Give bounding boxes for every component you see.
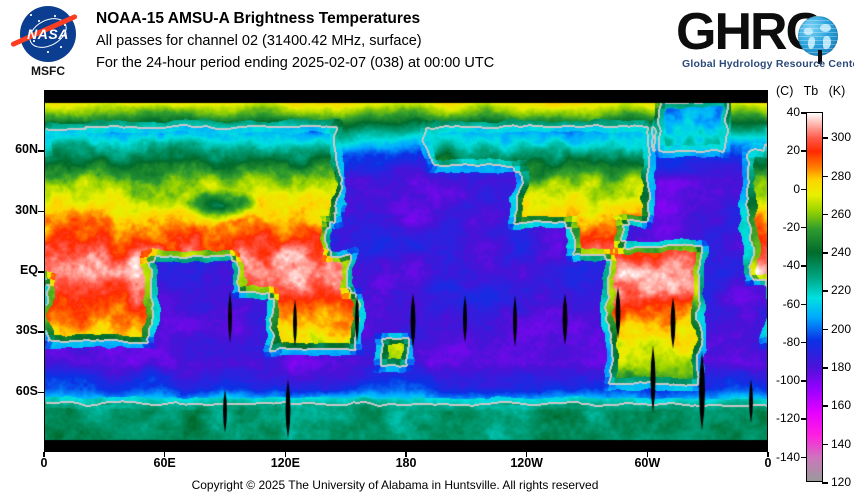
colorbar-celsius-label: -120	[776, 411, 800, 425]
colorbar-kelvin-tick	[822, 444, 828, 446]
colorbar-kelvin-tick	[822, 405, 828, 407]
colorbar-kelvin-tick	[822, 137, 828, 139]
nasa-wordmark: NASA	[20, 26, 76, 42]
latitude-tick-mark	[38, 331, 44, 333]
colorbar-celsius-label: -60	[783, 297, 800, 311]
colorbar-celsius-tick	[801, 227, 807, 229]
latitude-tick-mark	[38, 150, 44, 152]
colorbar-kelvin-unit: (K)	[829, 84, 846, 98]
longitude-tick-mark	[285, 452, 287, 457]
longitude-tick-mark	[526, 452, 528, 457]
colorbar-kelvin-tick	[822, 482, 828, 484]
colorbar-celsius-label: -20	[783, 220, 800, 234]
longitude-tick-label: 60E	[154, 456, 176, 470]
longitude-tick-label: 180	[396, 456, 417, 470]
colorbar-kelvin-label: 160	[831, 398, 851, 412]
colorbar-kelvin-tick	[822, 176, 828, 178]
longitude-tick-label: 120W	[510, 456, 543, 470]
colorbar-kelvin-label: 240	[831, 245, 851, 259]
colorbar-kelvin-tick	[822, 290, 828, 292]
colorbar-celsius-label: -80	[783, 335, 800, 349]
colorbar-celsius-ticks: 40200-20-40-60-80-100-120-140	[768, 0, 800, 502]
colorbar-celsius-tick	[801, 418, 807, 420]
colorbar-celsius-label: -100	[776, 373, 800, 387]
colorbar-kelvin-label: 120	[831, 475, 851, 489]
colorbar-kelvin-label: 280	[831, 169, 851, 183]
colorbar	[806, 112, 823, 482]
colorbar-celsius-tick	[801, 457, 807, 459]
colorbar-celsius-tick	[801, 265, 807, 267]
longitude-tick-mark	[164, 452, 166, 457]
colorbar-kelvin-label: 140	[831, 437, 851, 451]
latitude-tick-mark	[38, 392, 44, 394]
colorbar-celsius-tick	[801, 112, 807, 114]
colorbar-quantity: Tb	[804, 84, 819, 98]
latitude-tick-mark	[38, 211, 44, 213]
colorbar-kelvin-tick	[822, 252, 828, 254]
colorbar-celsius-tick	[801, 150, 807, 152]
colorbar-kelvin-label: 260	[831, 207, 851, 221]
colorbar-celsius-tick	[801, 342, 807, 344]
colorbar-celsius-label: 40	[787, 105, 800, 119]
longitude-tick-label: 60W	[634, 456, 660, 470]
colorbar-gradient	[807, 113, 822, 481]
colorbar-celsius-tick	[801, 380, 807, 382]
colorbar-celsius-tick	[801, 189, 807, 191]
colorbar-kelvin-label: 300	[831, 130, 851, 144]
longitude-tick-label: 120E	[271, 456, 300, 470]
colorbar-kelvin-label: 200	[831, 322, 851, 336]
longitude-axis: 060E120E180120W60W0	[0, 0, 854, 502]
latitude-tick-mark	[38, 271, 44, 273]
colorbar-kelvin-label: 220	[831, 283, 851, 297]
colorbar-celsius-label: 20	[787, 143, 800, 157]
colorbar-celsius-tick	[801, 304, 807, 306]
longitude-tick-label: 0	[41, 456, 48, 470]
colorbar-kelvin-tick	[822, 367, 828, 369]
colorbar-kelvin-tick	[822, 329, 828, 331]
longitude-tick-mark	[647, 452, 649, 457]
colorbar-celsius-label: 0	[793, 182, 800, 196]
colorbar-kelvin-tick	[822, 214, 828, 216]
longitude-tick-mark	[405, 452, 407, 457]
copyright-notice: Copyright © 2025 The University of Alaba…	[0, 478, 790, 492]
colorbar-celsius-label: -40	[783, 258, 800, 272]
colorbar-celsius-label: -140	[776, 450, 800, 464]
colorbar-kelvin-label: 180	[831, 360, 851, 374]
longitude-tick-mark	[43, 452, 45, 457]
